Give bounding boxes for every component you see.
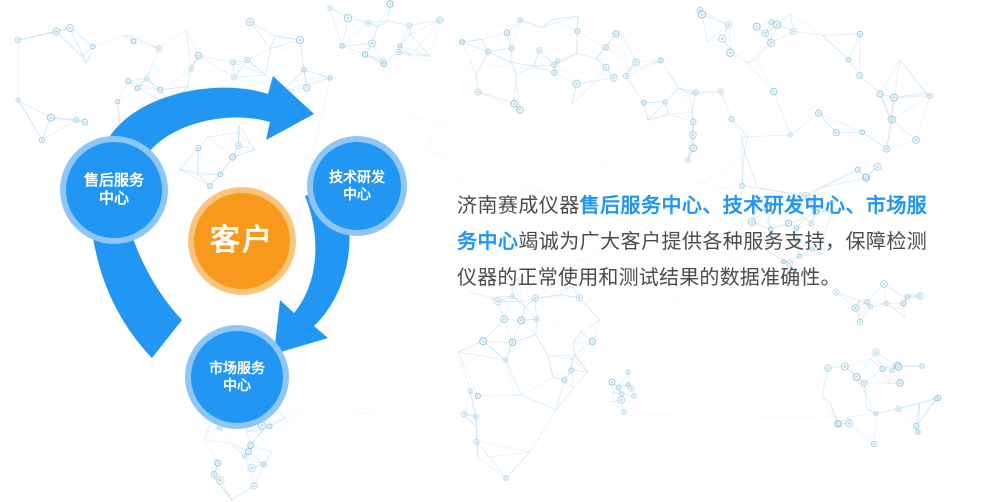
market-line-1: 市场服务	[209, 360, 265, 377]
description-paragraph: 济南赛成仪器售后服务中心、技术研发中心、市场服务中心竭诚为广大客户提供各种服务支…	[457, 188, 927, 296]
copy-lead: 济南赛成仪器	[457, 195, 580, 217]
node-market-label: 市场服务 中心	[191, 331, 283, 423]
after-sales-line-1: 售后服务	[84, 172, 144, 190]
service-cycle-diagram: 售后服务 中心 技术研发 中心 市场服务 中心	[30, 70, 430, 430]
rnd-line-2: 中心	[329, 186, 385, 203]
copy-tail: 竭诚为广大客户提供各种服务支持，保障检测仪器的正常使用和测试结果的数据准确性。	[457, 231, 927, 289]
rnd-line-1: 技术研发	[329, 169, 385, 186]
node-rnd-label: 技术研发 中心	[313, 142, 401, 230]
hero-banner: 售后服务 中心 技术研发 中心 市场服务 中心	[0, 0, 998, 502]
node-customer-center[interactable]: 客户	[188, 187, 296, 295]
market-line-2: 中心	[209, 377, 265, 394]
after-sales-line-2: 中心	[84, 190, 144, 208]
node-technical-rnd-center[interactable]: 技术研发 中心	[307, 136, 407, 236]
node-after-sales-service-center[interactable]: 售后服务 中心	[60, 136, 168, 244]
customer-label: 客户	[194, 193, 290, 289]
node-after-sales-label: 售后服务 中心	[66, 142, 162, 238]
node-market-service-center[interactable]: 市场服务 中心	[185, 325, 289, 429]
